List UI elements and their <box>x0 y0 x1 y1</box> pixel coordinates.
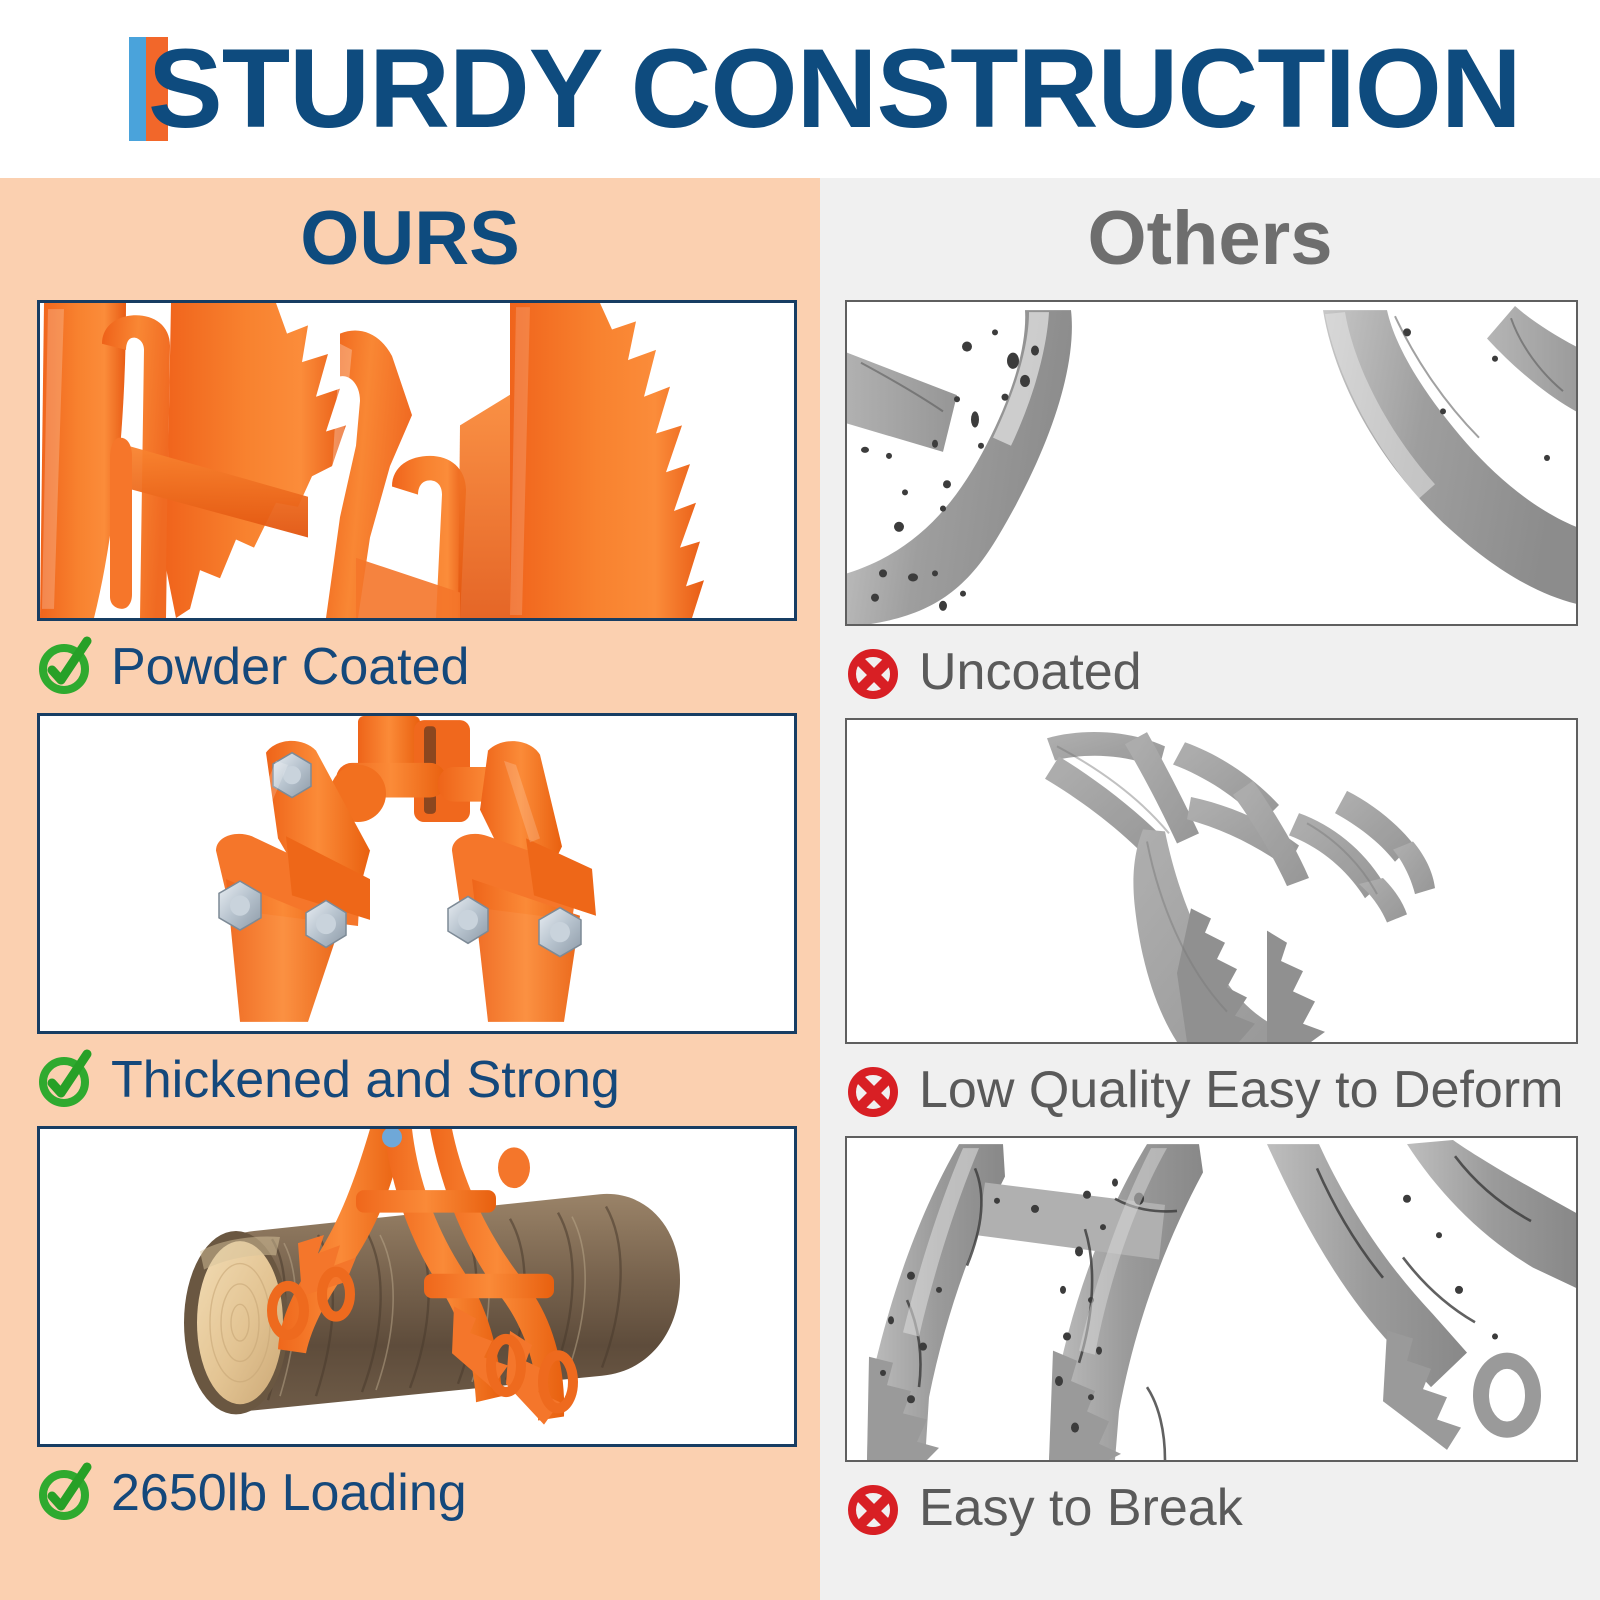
red-x-icon <box>845 1480 901 1536</box>
comparison-columns: OURS <box>0 178 1600 1600</box>
accent-bar-blue <box>129 37 146 141</box>
others-row-easy-to-break: Easy to Break <box>845 1136 1578 1554</box>
ours-row-thickened-and-strong: Thickened and Strong <box>37 713 797 1126</box>
orange-grapple-closeup-illustration <box>40 303 794 618</box>
gray-deformed-grapple-illustration <box>847 720 1576 1042</box>
caption-powder-coated: Powder Coated <box>37 621 797 713</box>
others-row-uncoated: Uncoated <box>845 300 1578 718</box>
page-title: STURDY CONSTRUCTION <box>148 34 1521 144</box>
column-ours: OURS <box>0 178 820 1600</box>
gray-cracked-arms-illustration <box>847 1138 1576 1460</box>
header-banner: STURDY CONSTRUCTION <box>0 0 1600 178</box>
caption-label: 2650lb Loading <box>111 1465 467 1521</box>
orange-linkage-illustration <box>40 716 794 1031</box>
caption-uncoated: Uncoated <box>845 626 1578 718</box>
others-row-low-quality: Low Quality Easy to Deform <box>845 718 1578 1136</box>
red-x-icon <box>845 644 901 700</box>
image-panel-powder-coated <box>37 300 797 621</box>
others-row-list: Uncoated <box>820 300 1600 1554</box>
caption-label: Low Quality Easy to Deform <box>919 1062 1563 1118</box>
red-x-icon <box>845 1062 901 1118</box>
caption-loading-capacity: 2650lb Loading <box>37 1447 797 1539</box>
ours-row-powder-coated: Powder Coated <box>37 300 797 713</box>
orange-grapple-holding-log-illustration <box>40 1129 794 1444</box>
green-check-icon <box>37 1465 93 1521</box>
comparison-infographic: STURDY CONSTRUCTION OURS <box>0 0 1600 1600</box>
caption-label: Thickened and Strong <box>111 1052 620 1108</box>
image-panel-low-quality <box>845 718 1578 1044</box>
column-heading-others: Others <box>820 178 1600 300</box>
column-others: Others <box>820 178 1600 1600</box>
green-check-icon <box>37 1052 93 1108</box>
green-check-icon <box>37 639 93 695</box>
caption-thickened-and-strong: Thickened and Strong <box>37 1034 797 1126</box>
caption-label: Uncoated <box>919 644 1142 700</box>
column-heading-ours-label: OURS <box>300 200 520 278</box>
caption-easy-to-break: Easy to Break <box>845 1462 1578 1554</box>
caption-low-quality: Low Quality Easy to Deform <box>845 1044 1578 1136</box>
caption-label: Powder Coated <box>111 639 469 695</box>
ours-row-loading-capacity: 2650lb Loading <box>37 1126 797 1539</box>
image-panel-thickened-and-strong <box>37 713 797 1034</box>
caption-label: Easy to Break <box>919 1480 1243 1536</box>
ours-row-list: Powder Coated <box>0 300 820 1539</box>
image-panel-uncoated <box>845 300 1578 626</box>
column-heading-others-label: Others <box>1088 200 1333 278</box>
image-panel-easy-to-break <box>845 1136 1578 1462</box>
image-panel-loading-capacity <box>37 1126 797 1447</box>
column-heading-ours: OURS <box>0 178 820 300</box>
gray-pitted-arms-illustration <box>847 302 1576 624</box>
